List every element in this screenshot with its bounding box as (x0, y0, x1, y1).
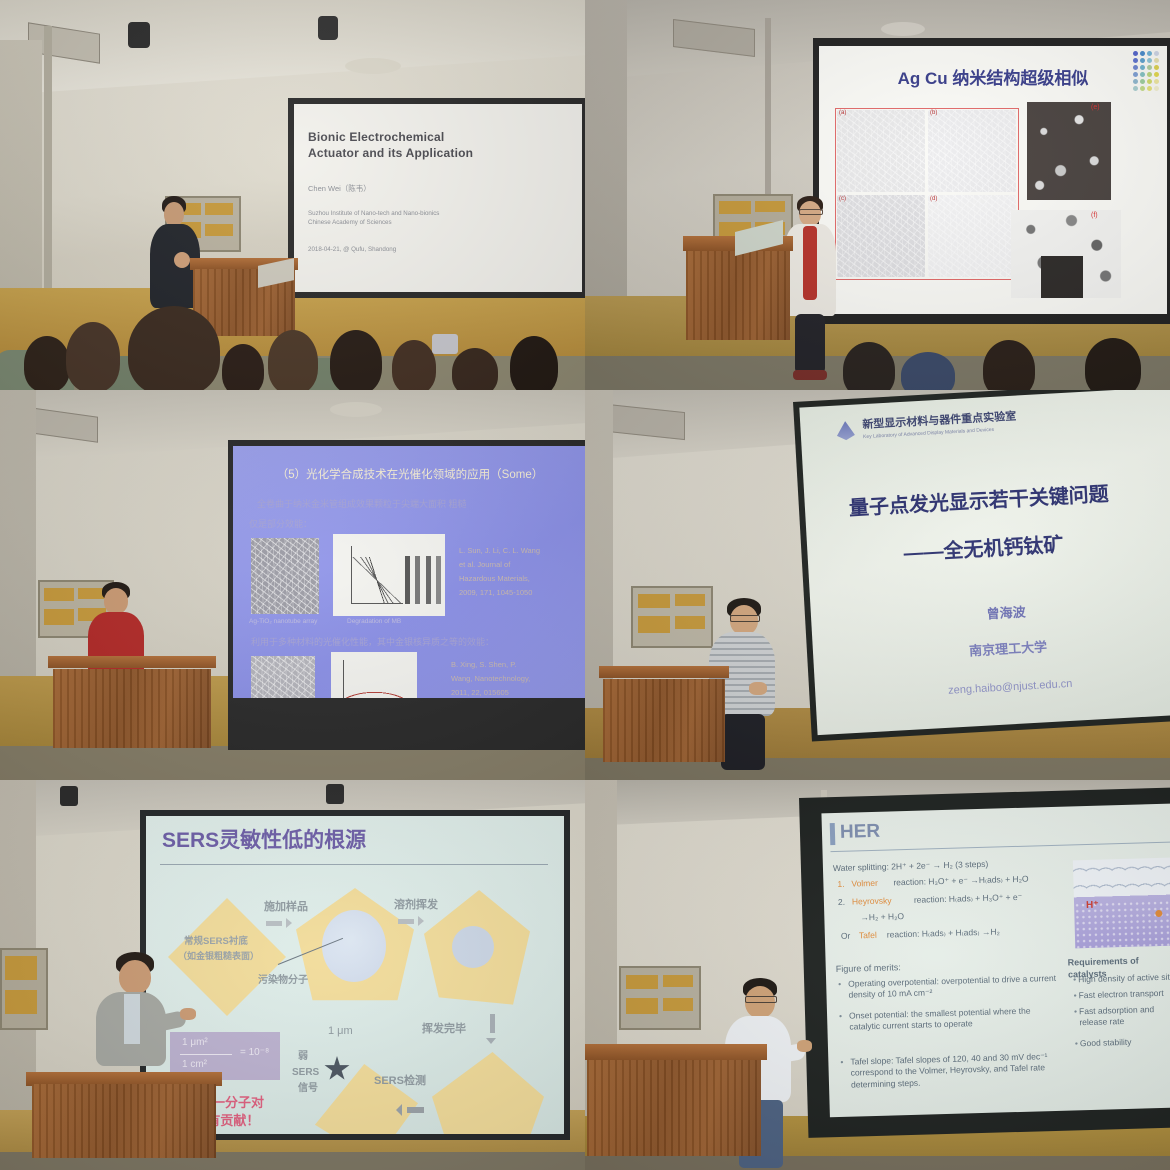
dot-grid-logo-icon (1133, 51, 1159, 91)
audience-head (128, 306, 220, 390)
podium-body (686, 251, 789, 340)
arrow-left-icon (396, 1104, 424, 1116)
weak-signal-line2: SERS (292, 1066, 319, 1080)
board-note (675, 616, 705, 629)
audience-head (66, 322, 120, 390)
slide-body-line1: 全卷曲于纳米金米管组成效果颗粒于尖端大面积 粗糙 (257, 498, 577, 510)
presenter-hand (180, 1008, 196, 1020)
ceiling-spotlight-2 (326, 784, 344, 804)
podium-body (603, 679, 725, 762)
floor (585, 1156, 1170, 1170)
solvent-droplet (322, 910, 386, 982)
step4-label: 挥发完毕 (422, 1022, 466, 1037)
reference1-line1: L. Sun, J. Li, C. L. Wang (459, 546, 540, 556)
requirement-item: Good stability (1080, 1035, 1170, 1049)
bullet-icon: • (840, 1057, 843, 1067)
ceiling-spotlight-1 (128, 22, 150, 48)
title-accent-bar (830, 823, 836, 845)
slide-photocatalysis: （5）光化学合成技术在光催化领域的应用（Some） 全卷曲于纳米金米管组成效果颗… (233, 446, 585, 698)
presenter-glasses-icon (730, 615, 760, 622)
merit-item: Tafel slope: Tafel slopes of 120, 40 and… (850, 1051, 1066, 1091)
reference1-line3: Hazardous Materials, (459, 574, 530, 584)
micrograph-e (1027, 102, 1111, 200)
chart-absorbance (331, 652, 417, 698)
arrow-right-1-icon (266, 918, 292, 929)
panel-top-left: Bionic Electrochemical Actuator and its … (0, 0, 585, 390)
step1-label-line2: （如金银粗糙表面） (178, 950, 259, 962)
board-note (205, 203, 233, 215)
photo-collage: Bionic Electrochemical Actuator and its … (0, 0, 1170, 1170)
panel-bottom-right: HER Water splitting: 2H⁺ + 2e⁻ → H₂ (3 s… (585, 780, 1170, 1170)
micrograph-label-b: (b) (930, 110, 937, 116)
projection-screen: （5）光化学合成技术在光催化领域的应用（Some） 全卷曲于纳米金米管组成效果颗… (228, 440, 585, 750)
audience-head (510, 336, 558, 390)
ceiling-spotlight-1 (60, 786, 78, 806)
arrow-right-2-icon (398, 916, 424, 927)
micrograph-nanotube-array (251, 538, 319, 614)
audience-head (983, 340, 1035, 390)
notice-board (631, 586, 713, 648)
bullet-icon: • (1073, 990, 1076, 1000)
notice-board (619, 966, 701, 1030)
slide-title: SERS灵敏性低的根源 (162, 828, 366, 854)
presenter-shoes (793, 370, 827, 380)
board-note (719, 201, 751, 214)
merit-item: Operating overpotential: overpotential t… (848, 973, 1059, 1002)
step1-name: Volmer (851, 878, 878, 889)
board-note (5, 990, 37, 1014)
presenter-glasses-icon (799, 209, 823, 215)
step1-number: 1. (837, 879, 844, 889)
board-note (675, 594, 705, 606)
projection-screen: Bionic Electrochemical Actuator and its … (288, 98, 585, 298)
presenter-glasses-icon (745, 996, 777, 1003)
podium (48, 656, 216, 748)
micrograph-label-c: (c) (839, 196, 846, 202)
podium (585, 1044, 767, 1156)
ceiling-dome-light (330, 402, 382, 417)
merits-header: Figure of merits: (836, 961, 901, 975)
wall-pillar (44, 26, 52, 306)
presenter-legs (795, 314, 825, 374)
slide-title-line2: Actuator and its Application (308, 146, 473, 161)
arrow-down-icon (486, 1014, 499, 1044)
requirement-item: Fast electron transport (1078, 987, 1170, 1001)
audience-head (330, 330, 382, 390)
board-note (205, 224, 233, 236)
projection-screen: Ag Cu 纳米结构超级相似 (a) (b) (813, 38, 1170, 324)
board-note (44, 609, 74, 625)
presenter-hand (174, 252, 190, 268)
weak-sers-burst-icon (324, 1056, 350, 1082)
step1-text: reaction: H₃O⁺ + e⁻ →H₍ads₎ + H₂O (893, 874, 1028, 889)
podium-body (53, 669, 211, 748)
requirement-item: Fast adsorption and release rate (1079, 1003, 1170, 1029)
board-note (638, 594, 670, 608)
presenter-head (104, 588, 128, 614)
audience-head (901, 352, 955, 390)
step3-text: reaction: H₍ads₎ + H₍ads₎ →H₂ (887, 926, 1000, 940)
slide-presenter: 曾海波 (811, 594, 1170, 633)
slide-author: Chen Wei（陈韦） (308, 184, 371, 194)
residue-spot (452, 926, 494, 968)
podium (599, 666, 729, 762)
presenter-head (164, 202, 184, 226)
slide-title: HER (840, 820, 881, 845)
chart-degradation-mb (333, 534, 445, 616)
formula-numerator: 1 μm² (182, 1037, 208, 1048)
projection-screen: 新型显示材料与器件重点实验室 Key Laboratory of Advance… (793, 390, 1170, 741)
formula-result: = 10⁻⁸ (240, 1047, 269, 1058)
board-note (663, 975, 693, 987)
micrograph-f-inset (1041, 256, 1083, 298)
panel-top-right: Ag Cu 纳米结构超级相似 (a) (b) (585, 0, 1170, 390)
bullet-icon: • (839, 1011, 842, 1021)
slide-affiliation-1: Suzhou Institute of Nano-tech and Nano-b… (308, 210, 439, 218)
caption-left: Ag-TiO₂ nanotube array (249, 618, 317, 627)
formula-bar (180, 1054, 232, 1055)
podium-top (48, 656, 216, 668)
bullet-icon: • (1075, 1038, 1078, 1048)
final-substrate-shape (432, 1052, 544, 1134)
micrograph-zno-nanowire (251, 656, 315, 698)
board-note (663, 998, 693, 1011)
audience-head (843, 342, 895, 390)
slide-title-line1: Bionic Electrochemical (308, 130, 444, 145)
ceiling-dome-light (881, 22, 925, 36)
ceiling-spotlight-2 (318, 16, 338, 40)
presenter-head (119, 960, 151, 994)
audience-head (452, 348, 498, 390)
slide-body-line2: 仅是部分效能： (249, 518, 312, 530)
ceiling-dome-light (345, 58, 401, 74)
formula-denominator: 1 cm² (182, 1059, 207, 1070)
podium-body (32, 1084, 216, 1158)
audience-head (1085, 338, 1141, 390)
slide-date-place: 2018-04-21, @ Qufu, Shandong (308, 246, 396, 254)
reference1-line2: et al. Journal of (459, 560, 510, 570)
reference2-line1: B. Xing, S. Shen, P. (451, 660, 516, 670)
micrograph-group-left: (a) (b) (c) (d) (835, 108, 1019, 280)
slide-title: （5）光化学合成技术在光催化领域的应用（Some） (233, 468, 585, 482)
notice-board (0, 948, 48, 1030)
board-note (44, 588, 74, 601)
presenter-hand (797, 1040, 812, 1052)
audience-phone (432, 334, 458, 354)
step3-label: 溶剂挥发 (394, 898, 438, 913)
slide-institution: 南京理工大学 (813, 630, 1170, 669)
podium (26, 1072, 222, 1158)
board-note (5, 956, 37, 980)
annotation-molecule: 污染物分子 (258, 974, 308, 988)
merit-item: Onset potential: the smallest potential … (849, 1005, 1060, 1034)
step2-name: Heyrovsky (852, 895, 892, 906)
board-note (638, 616, 670, 633)
micrograph-label-f: (f) (1091, 212, 1098, 219)
requirement-item: High density of active sites (1078, 971, 1170, 985)
water-splitting-line: Water splitting: 2H⁺ + 2e⁻ → H₂ (3 steps… (833, 859, 989, 875)
side-wall (0, 40, 42, 300)
presenter-inner-shirt (124, 994, 140, 1044)
micrograph-label-a: (a) (839, 110, 846, 116)
slide-body-line3: 利用于多种材料的光催化性能，其中金银核异质之等的效能： (251, 636, 579, 648)
slide-agcu-nanostructure: Ag Cu 纳米结构超级相似 (a) (b) (819, 46, 1167, 314)
diagram-label-h-plus: H⁺ (1086, 900, 1099, 911)
slide-affiliation-2: Chinese Academy of Sciences (308, 219, 392, 227)
step5-label: SERS检测 (374, 1074, 426, 1089)
micrograph-a (837, 110, 925, 192)
presenter-scarf (803, 226, 817, 300)
step3-prefix: Or (841, 931, 851, 941)
reference2-line2: Wang, Nanotechnology, (451, 674, 530, 684)
slide-email: zeng.haibo@njust.edu.cn (815, 669, 1170, 706)
audience-head (222, 344, 264, 390)
podium-top (585, 1044, 767, 1060)
panel-middle-left: （5）光化学合成技术在光催化领域的应用（Some） 全卷曲于纳米金米管组成效果颗… (0, 390, 585, 780)
bullet-icon: • (838, 979, 841, 989)
podium-top (599, 666, 729, 678)
podium-body (587, 1060, 762, 1156)
title-divider (830, 842, 1170, 853)
slide-bionic-actuator: Bionic Electrochemical Actuator and its … (294, 104, 582, 292)
panel-bottom-left: SERS灵敏性低的根源 常规SERS衬底 （如金银粗糙表面） 施加样品 污染物分… (0, 780, 585, 1170)
her-schematic-diagram: H⁺ (1073, 858, 1170, 949)
audience-head (24, 336, 70, 390)
slide-title-line1: 量子点发光显示若干关键问题 (848, 483, 1109, 522)
micrograph-label-e: (e) (1091, 104, 1100, 111)
audience-head (392, 340, 436, 390)
weak-signal-line1: 弱 (298, 1050, 308, 1064)
step3-name: Tafel (859, 930, 877, 940)
floor (0, 746, 585, 780)
caption-right: Degradation of MB (347, 618, 401, 627)
bullet-icon: • (1074, 1006, 1077, 1016)
board-note (626, 998, 658, 1014)
scale-label: 1 μm (328, 1024, 353, 1039)
board-note (626, 975, 658, 989)
step2-continuation: →H₂ + H₂O (860, 911, 904, 922)
step2-text: reaction: H₍ads₎ + H₃O⁺ + e⁻ (914, 892, 1023, 906)
micrograph-d (928, 195, 1016, 277)
slide-title-line2: ——全无机钙钛矿 (903, 533, 1064, 567)
micrograph-label-d: (d) (930, 196, 937, 202)
weak-signal-line3: 信号 (298, 1082, 318, 1096)
lab-logo-icon (836, 421, 856, 456)
projection-screen: HER Water splitting: 2H⁺ + 2e⁻ → H₂ (3 s… (799, 787, 1170, 1138)
panel-middle-right: 新型显示材料与器件重点实验室 Key Laboratory of Advance… (585, 390, 1170, 780)
step2-label: 施加样品 (264, 900, 308, 915)
bullet-icon: • (1073, 974, 1076, 984)
reference2-line3: 2011, 22, 015605 (451, 688, 509, 698)
slide-title: Ag Cu 纳米结构超级相似 (819, 68, 1167, 89)
audience-head (268, 330, 318, 390)
micrograph-c (837, 195, 925, 277)
step2-number: 2. (838, 897, 845, 907)
presenter-hand (749, 682, 767, 695)
micrograph-b (928, 110, 1016, 192)
slide-quantum-dot: 新型显示材料与器件重点实验室 Key Laboratory of Advance… (799, 390, 1170, 735)
reference1-line4: 2009, 171, 1045-1050 (459, 588, 532, 598)
slide-her: HER Water splitting: 2H⁺ + 2e⁻ → H₂ (3 s… (821, 803, 1170, 1117)
title-divider (160, 864, 548, 865)
step1-label-line1: 常规SERS衬底 (184, 936, 248, 949)
